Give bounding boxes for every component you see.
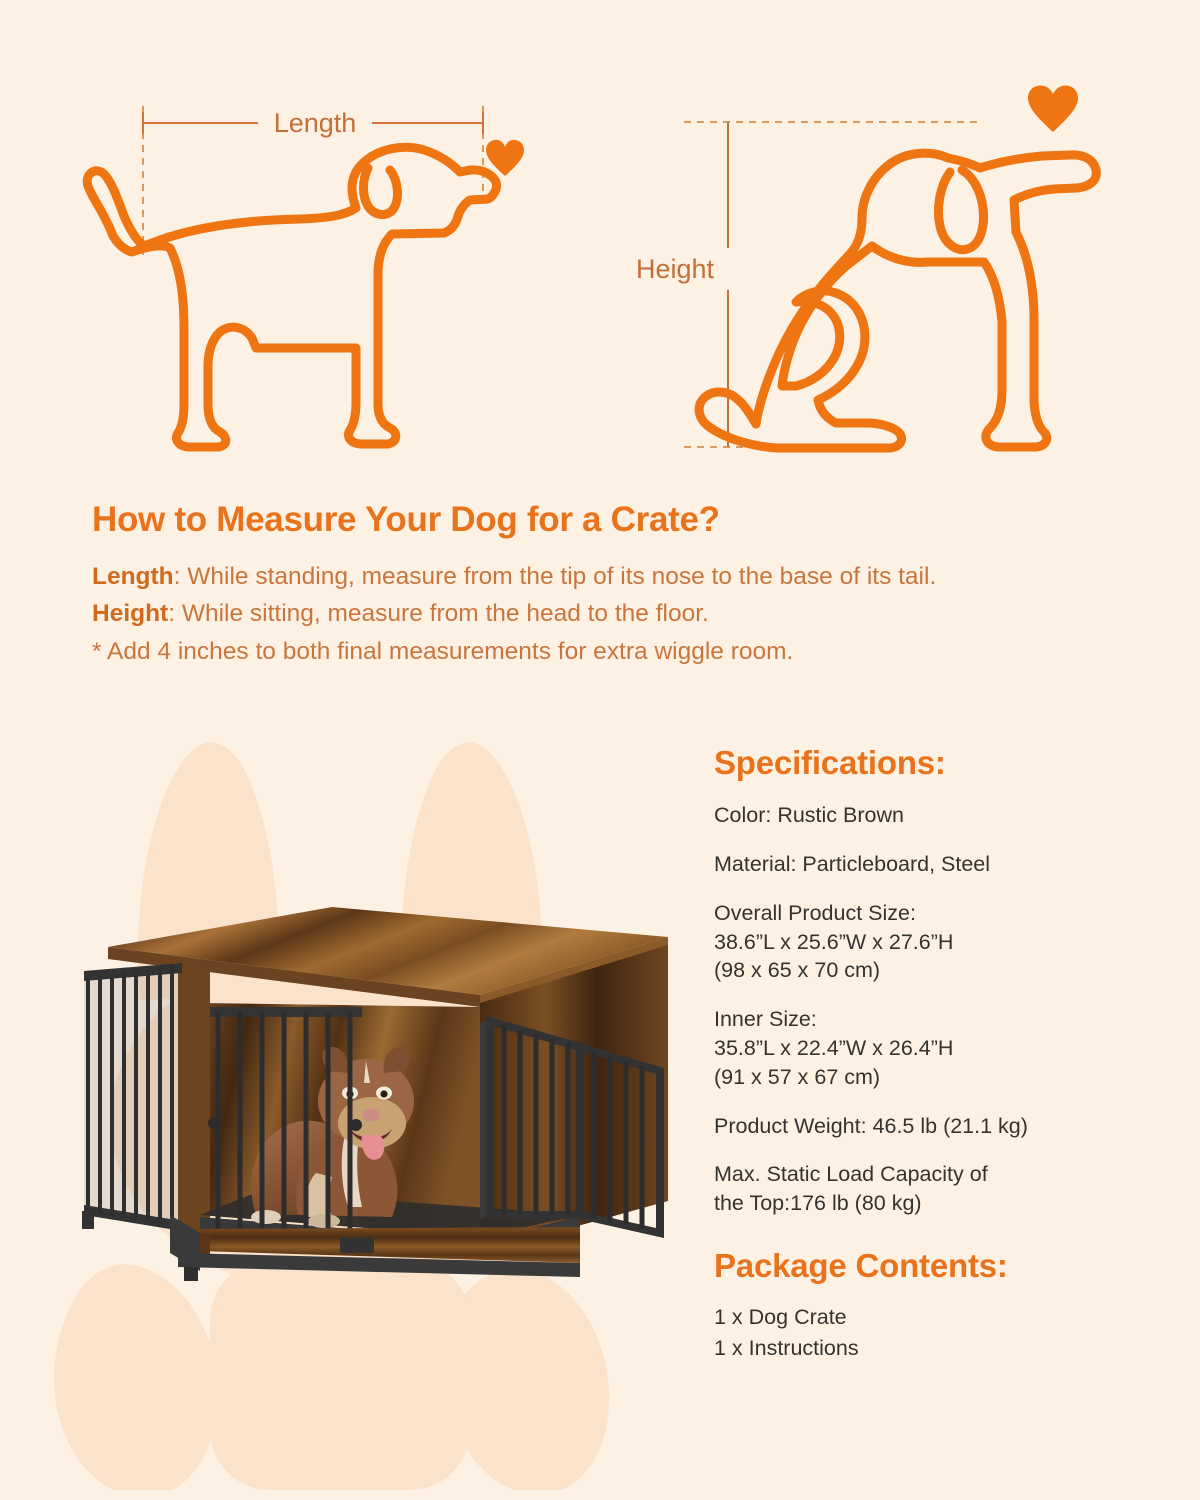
height-label: Height bbox=[636, 254, 715, 284]
height-diagram-group bbox=[684, 86, 1096, 448]
spec-overall-line2: 38.6”L x 25.6”W x 27.6”H bbox=[714, 928, 1144, 957]
spec-weight-line1: Product Weight: 46.5 lb (21.1 kg) bbox=[714, 1114, 1028, 1138]
crate-left-stile bbox=[178, 963, 210, 1237]
length-diagram-group bbox=[87, 106, 524, 447]
spec-inner-line1: Inner Size: bbox=[714, 1005, 1144, 1034]
measure-text-height: : While sitting, measure from the head t… bbox=[168, 600, 709, 627]
spec-load-line2: the Top:176 lb (80 kg) bbox=[714, 1189, 1144, 1218]
package-item-crate: 1 x Dog Crate bbox=[714, 1302, 1144, 1333]
spec-item-overall-size: Overall Product Size: 38.6”L x 25.6”W x … bbox=[714, 899, 1144, 985]
measurement-diagrams: Length Height bbox=[0, 0, 1200, 480]
crate-foot-left bbox=[82, 1211, 94, 1229]
measure-line-length: Length: While standing, measure from the… bbox=[92, 558, 1102, 595]
measure-line-height: Height: While sitting, measure from the … bbox=[92, 595, 1102, 632]
package-contents-heading: Package Contents: bbox=[714, 1248, 1144, 1284]
spec-overall-line1: Overall Product Size: bbox=[714, 899, 1144, 928]
spec-item-material: Material: Particleboard, Steel bbox=[714, 850, 1144, 879]
standing-dog-ear-icon bbox=[364, 168, 398, 215]
length-label: Length bbox=[274, 108, 357, 138]
product-image-dog-crate bbox=[60, 885, 680, 1305]
specifications-list: Color: Rustic Brown Material: Particlebo… bbox=[714, 801, 1144, 1218]
crate-center-latch-icon[interactable] bbox=[350, 1119, 362, 1131]
crate-bottom-bracket bbox=[340, 1237, 374, 1253]
package-contents-list: 1 x Dog Crate 1 x Instructions bbox=[714, 1302, 1144, 1363]
spec-item-color: Color: Rustic Brown bbox=[714, 801, 1144, 830]
crate-left-latch-icon[interactable] bbox=[208, 1117, 220, 1129]
how-to-measure-block: How to Measure Your Dog for a Crate? Len… bbox=[92, 500, 1102, 670]
measure-heading: How to Measure Your Dog for a Crate? bbox=[92, 500, 1102, 539]
spec-overall-line3: (98 x 65 x 70 cm) bbox=[714, 956, 1144, 985]
crate-left-bar-panel bbox=[84, 963, 182, 1231]
spec-color-line1: Color: Rustic Brown bbox=[714, 803, 904, 827]
package-item-instructions: 1 x Instructions bbox=[714, 1333, 1144, 1364]
spec-inner-line3: (91 x 57 x 67 cm) bbox=[714, 1063, 1144, 1092]
spec-material-line1: Material: Particleboard, Steel bbox=[714, 852, 990, 876]
specifications-column: Specifications: Color: Rustic Brown Mate… bbox=[714, 745, 1144, 1363]
dog-crate-illustration bbox=[60, 885, 680, 1305]
measure-text-note: * Add 4 inches to both final measurement… bbox=[92, 638, 793, 665]
diagram-illustrations: Length Height bbox=[0, 0, 1200, 480]
spec-load-line1: Max. Static Load Capacity of bbox=[714, 1160, 1144, 1189]
spec-item-inner-size: Inner Size: 35.8”L x 22.4”W x 26.4”H (91… bbox=[714, 1005, 1144, 1091]
spec-item-load-capacity: Max. Static Load Capacity of the Top:176… bbox=[714, 1160, 1144, 1218]
spec-inner-line2: 35.8”L x 22.4”W x 26.4”H bbox=[714, 1034, 1144, 1063]
sitting-dog-ear-icon bbox=[938, 170, 983, 250]
standing-dog-outline-icon bbox=[87, 147, 496, 447]
specifications-heading: Specifications: bbox=[714, 745, 1144, 781]
measure-line-note: * Add 4 inches to both final measurement… bbox=[92, 633, 1102, 670]
measure-key-length: Length bbox=[92, 563, 174, 590]
spec-item-weight: Product Weight: 46.5 lb (21.1 kg) bbox=[714, 1112, 1144, 1141]
heart-icon bbox=[486, 140, 524, 176]
measure-text-length: : While standing, measure from the tip o… bbox=[174, 563, 937, 590]
measure-key-height: Height bbox=[92, 600, 168, 627]
heart-icon bbox=[1028, 86, 1078, 132]
measure-instruction-list: Length: While standing, measure from the… bbox=[92, 558, 1102, 670]
sitting-dog-outline-icon bbox=[699, 153, 1096, 448]
crate-foot-front-left bbox=[184, 1267, 198, 1281]
